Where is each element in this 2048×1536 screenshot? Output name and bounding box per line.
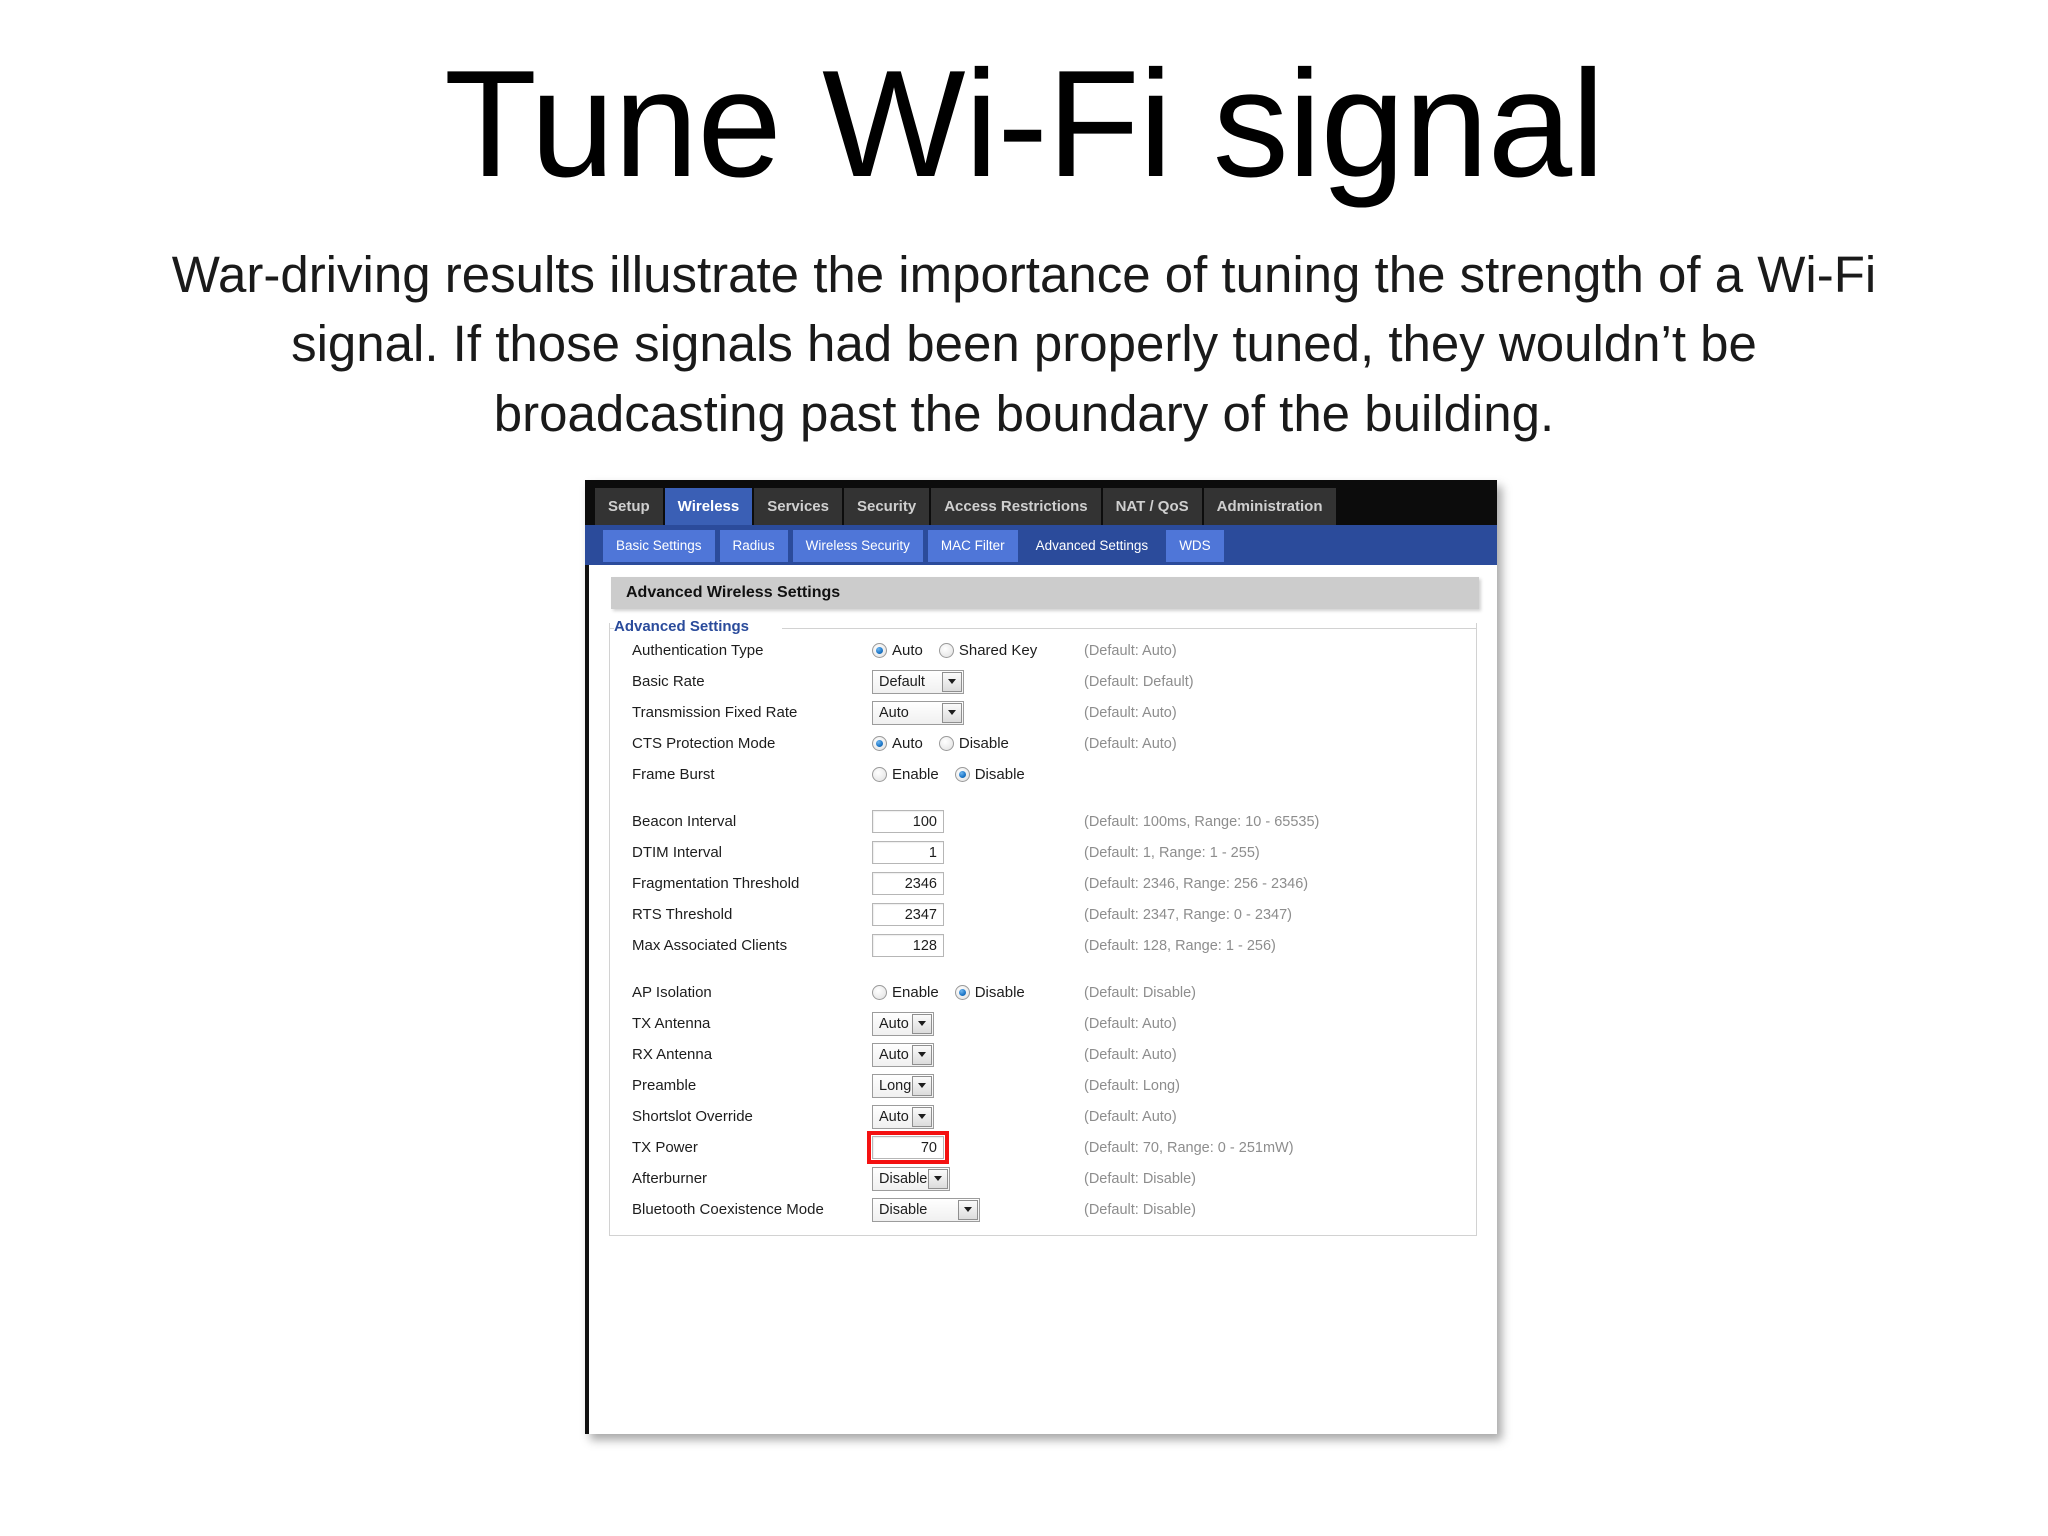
select-shortslot-override[interactable]: Auto: [872, 1105, 934, 1129]
setting-label-tx-power: TX Power: [632, 1139, 872, 1156]
main-tab-setup[interactable]: Setup: [595, 488, 663, 525]
radio-group-cts-protection-mode: AutoDisable: [872, 735, 1025, 752]
setting-label-frame-burst: Frame Burst: [632, 766, 872, 783]
radio-option-label: Enable: [892, 766, 939, 783]
radio-option-label: Auto: [892, 735, 923, 752]
sub-tab-mac-filter[interactable]: MAC Filter: [928, 530, 1018, 562]
setting-hint-tx-power: (Default: 70, Range: 0 - 251mW): [1084, 1140, 1294, 1156]
setting-control-afterburner: Disable: [872, 1167, 1084, 1191]
main-tab-nat-qos[interactable]: NAT / QoS: [1103, 488, 1202, 525]
radio-option-authentication-type-auto[interactable]: Auto: [872, 642, 923, 659]
radio-option-label: Auto: [892, 642, 923, 659]
setting-control-beacon-interval: 100: [872, 810, 1084, 833]
slide: Tune Wi-Fi signal War-driving results il…: [0, 0, 2048, 1536]
setting-label-transmission-fixed-rate: Transmission Fixed Rate: [632, 704, 872, 721]
radio-option-label: Disable: [959, 735, 1009, 752]
select-preamble[interactable]: Long: [872, 1074, 934, 1098]
setting-label-rx-antenna: RX Antenna: [632, 1046, 872, 1063]
main-tab-administration[interactable]: Administration: [1204, 488, 1336, 525]
radio-option-label: Enable: [892, 984, 939, 1001]
radio-button-icon[interactable]: [872, 767, 887, 782]
select-bluetooth-coexistence-mode[interactable]: Disable: [872, 1198, 980, 1222]
chevron-down-icon[interactable]: [912, 1076, 932, 1096]
setting-label-preamble: Preamble: [632, 1077, 872, 1094]
radio-group-authentication-type: AutoShared Key: [872, 642, 1053, 659]
setting-row-rts-threshold: RTS Threshold2347(Default: 2347, Range: …: [610, 899, 1476, 930]
setting-hint-rts-threshold: (Default: 2347, Range: 0 - 2347): [1084, 907, 1292, 923]
setting-control-frame-burst: EnableDisable: [872, 766, 1084, 783]
main-tab-services[interactable]: Services: [754, 488, 842, 525]
chevron-down-icon[interactable]: [912, 1045, 932, 1065]
setting-hint-max-associated-clients: (Default: 128, Range: 1 - 256): [1084, 938, 1276, 954]
setting-row-beacon-interval: Beacon Interval100(Default: 100ms, Range…: [610, 806, 1476, 837]
radio-option-ap-isolation-enable[interactable]: Enable: [872, 984, 939, 1001]
input-max-associated-clients[interactable]: 128: [872, 934, 944, 957]
sub-tab-basic-settings[interactable]: Basic Settings: [603, 530, 715, 562]
setting-label-fragmentation-threshold: Fragmentation Threshold: [632, 875, 872, 892]
main-tab-bar: SetupWirelessServicesSecurityAccess Rest…: [585, 480, 1497, 525]
chevron-down-icon[interactable]: [942, 703, 962, 723]
setting-control-fragmentation-threshold: 2346: [872, 872, 1084, 895]
input-fragmentation-threshold[interactable]: 2346: [872, 872, 944, 895]
advanced-settings-fieldset: Advanced Settings Authentication TypeAut…: [609, 623, 1477, 1236]
setting-label-rts-threshold: RTS Threshold: [632, 906, 872, 923]
setting-control-bluetooth-coexistence-mode: Disable: [872, 1198, 1084, 1222]
setting-hint-afterburner: (Default: Disable): [1084, 1171, 1196, 1187]
setting-label-tx-antenna: TX Antenna: [632, 1015, 872, 1032]
chevron-down-icon[interactable]: [942, 672, 962, 692]
radio-option-label: Disable: [975, 766, 1025, 783]
setting-row-afterburner: AfterburnerDisable(Default: Disable): [610, 1163, 1476, 1194]
radio-button-icon[interactable]: [872, 643, 887, 658]
radio-option-label: Disable: [975, 984, 1025, 1001]
router-admin-screenshot: SetupWirelessServicesSecurityAccess Rest…: [585, 480, 1497, 1434]
setting-row-basic-rate: Basic RateDefault(Default: Default): [610, 666, 1476, 697]
setting-label-basic-rate: Basic Rate: [632, 673, 872, 690]
fieldset-legend: Advanced Settings: [614, 618, 759, 635]
select-value: Auto: [873, 705, 942, 721]
setting-control-cts-protection-mode: AutoDisable: [872, 735, 1084, 752]
radio-group-ap-isolation: EnableDisable: [872, 984, 1041, 1001]
setting-hint-cts-protection-mode: (Default: Auto): [1084, 736, 1177, 752]
radio-group-frame-burst: EnableDisable: [872, 766, 1041, 783]
radio-button-icon[interactable]: [939, 643, 954, 658]
radio-option-authentication-type-shared-key[interactable]: Shared Key: [939, 642, 1037, 659]
main-tab-access-restrictions[interactable]: Access Restrictions: [931, 488, 1100, 525]
setting-control-tx-antenna: Auto: [872, 1012, 1084, 1036]
input-dtim-interval[interactable]: 1: [872, 841, 944, 864]
setting-control-basic-rate: Default: [872, 670, 1084, 694]
radio-button-icon[interactable]: [939, 736, 954, 751]
setting-control-shortslot-override: Auto: [872, 1105, 1084, 1129]
setting-row-dtim-interval: DTIM Interval1(Default: 1, Range: 1 - 25…: [610, 837, 1476, 868]
sub-tab-bar: Basic SettingsRadiusWireless SecurityMAC…: [585, 525, 1497, 565]
main-tab-security[interactable]: Security: [844, 488, 929, 525]
setting-row-frame-burst: Frame BurstEnableDisable: [610, 759, 1476, 790]
setting-hint-dtim-interval: (Default: 1, Range: 1 - 255): [1084, 845, 1260, 861]
input-tx-power[interactable]: 70: [872, 1136, 944, 1159]
setting-label-afterburner: Afterburner: [632, 1170, 872, 1187]
setting-control-dtim-interval: 1: [872, 841, 1084, 864]
select-basic-rate[interactable]: Default: [872, 670, 964, 694]
setting-row-authentication-type: Authentication TypeAutoShared Key(Defaul…: [610, 635, 1476, 666]
setting-label-max-associated-clients: Max Associated Clients: [632, 937, 872, 954]
select-value: Auto: [873, 1016, 912, 1032]
radio-option-frame-burst-enable[interactable]: Enable: [872, 766, 939, 783]
setting-control-authentication-type: AutoShared Key: [872, 642, 1084, 659]
setting-label-ap-isolation: AP Isolation: [632, 984, 872, 1001]
setting-row-tx-antenna: TX AntennaAuto(Default: Auto): [610, 1008, 1476, 1039]
chevron-down-icon[interactable]: [928, 1169, 948, 1189]
settings-page-body: Advanced Wireless Settings Advanced Sett…: [585, 565, 1497, 1434]
setting-hint-beacon-interval: (Default: 100ms, Range: 10 - 65535): [1084, 814, 1319, 830]
radio-option-ap-isolation-disable[interactable]: Disable: [955, 984, 1025, 1001]
radio-option-cts-protection-mode-auto[interactable]: Auto: [872, 735, 923, 752]
page-title: Tune Wi-Fi signal: [0, 48, 2048, 200]
setting-hint-bluetooth-coexistence-mode: (Default: Disable): [1084, 1202, 1196, 1218]
input-beacon-interval[interactable]: 100: [872, 810, 944, 833]
setting-row-rx-antenna: RX AntennaAuto(Default: Auto): [610, 1039, 1476, 1070]
fieldset-legend-row: Advanced Settings: [610, 622, 1476, 635]
sub-tab-wireless-security[interactable]: Wireless Security: [793, 530, 923, 562]
setting-label-dtim-interval: DTIM Interval: [632, 844, 872, 861]
setting-control-transmission-fixed-rate: Auto: [872, 701, 1084, 725]
select-value: Default: [873, 674, 942, 690]
sub-tab-radius[interactable]: Radius: [720, 530, 788, 562]
radio-option-cts-protection-mode-disable[interactable]: Disable: [939, 735, 1009, 752]
select-value: Auto: [873, 1109, 912, 1125]
setting-hint-preamble: (Default: Long): [1084, 1078, 1180, 1094]
radio-button-icon[interactable]: [872, 736, 887, 751]
setting-hint-ap-isolation: (Default: Disable): [1084, 985, 1196, 1001]
radio-option-label: Shared Key: [959, 642, 1037, 659]
main-tab-wireless[interactable]: Wireless: [665, 488, 753, 525]
setting-hint-transmission-fixed-rate: (Default: Auto): [1084, 705, 1177, 721]
select-value: Auto: [873, 1047, 912, 1063]
setting-control-ap-isolation: EnableDisable: [872, 984, 1084, 1001]
setting-row-shortslot-override: Shortslot OverrideAuto(Default: Auto): [610, 1101, 1476, 1132]
setting-hint-tx-antenna: (Default: Auto): [1084, 1016, 1177, 1032]
setting-hint-authentication-type: (Default: Auto): [1084, 643, 1177, 659]
setting-hint-basic-rate: (Default: Default): [1084, 674, 1194, 690]
setting-control-tx-power: 70: [872, 1136, 1084, 1159]
setting-control-max-associated-clients: 128: [872, 934, 1084, 957]
setting-control-rts-threshold: 2347: [872, 903, 1084, 926]
select-value: Disable: [873, 1171, 928, 1187]
setting-row-fragmentation-threshold: Fragmentation Threshold2346(Default: 234…: [610, 868, 1476, 899]
setting-control-rx-antenna: Auto: [872, 1043, 1084, 1067]
setting-label-cts-protection-mode: CTS Protection Mode: [632, 735, 872, 752]
setting-row-ap-isolation: AP IsolationEnableDisable(Default: Disab…: [610, 977, 1476, 1008]
setting-row-max-associated-clients: Max Associated Clients128(Default: 128, …: [610, 930, 1476, 961]
setting-row-cts-protection-mode: CTS Protection ModeAutoDisable(Default: …: [610, 728, 1476, 759]
select-afterburner[interactable]: Disable: [872, 1167, 950, 1191]
input-rts-threshold[interactable]: 2347: [872, 903, 944, 926]
setting-label-authentication-type: Authentication Type: [632, 642, 872, 659]
select-transmission-fixed-rate[interactable]: Auto: [872, 701, 964, 725]
setting-row-transmission-fixed-rate: Transmission Fixed RateAuto(Default: Aut…: [610, 697, 1476, 728]
setting-label-bluetooth-coexistence-mode: Bluetooth Coexistence Mode: [632, 1201, 872, 1218]
radio-button-icon[interactable]: [872, 985, 887, 1000]
chevron-down-icon[interactable]: [958, 1200, 978, 1220]
chevron-down-icon[interactable]: [912, 1014, 932, 1034]
setting-label-shortslot-override: Shortslot Override: [632, 1108, 872, 1125]
radio-button-icon[interactable]: [955, 767, 970, 782]
section-header: Advanced Wireless Settings: [611, 577, 1479, 609]
select-tx-antenna[interactable]: Auto: [872, 1012, 934, 1036]
setting-row-tx-power: TX Power70(Default: 70, Range: 0 - 251mW…: [610, 1132, 1476, 1163]
select-value: Long: [873, 1078, 912, 1094]
setting-hint-shortslot-override: (Default: Auto): [1084, 1109, 1177, 1125]
setting-row-preamble: PreambleLong(Default: Long): [610, 1070, 1476, 1101]
setting-row-bluetooth-coexistence-mode: Bluetooth Coexistence ModeDisable(Defaul…: [610, 1194, 1476, 1225]
setting-control-preamble: Long: [872, 1074, 1084, 1098]
sub-tab-advanced-settings[interactable]: Advanced Settings: [1023, 530, 1162, 562]
setting-hint-rx-antenna: (Default: Auto): [1084, 1047, 1177, 1063]
radio-button-icon[interactable]: [955, 985, 970, 1000]
select-rx-antenna[interactable]: Auto: [872, 1043, 934, 1067]
select-value: Disable: [873, 1202, 958, 1218]
setting-label-beacon-interval: Beacon Interval: [632, 813, 872, 830]
sub-tab-wds[interactable]: WDS: [1166, 530, 1224, 562]
slide-body-text: War-driving results illustrate the impor…: [164, 240, 1884, 448]
settings-rows: Authentication TypeAutoShared Key(Defaul…: [610, 635, 1476, 1225]
chevron-down-icon[interactable]: [912, 1107, 932, 1127]
radio-option-frame-burst-disable[interactable]: Disable: [955, 766, 1025, 783]
setting-hint-fragmentation-threshold: (Default: 2346, Range: 256 - 2346): [1084, 876, 1308, 892]
